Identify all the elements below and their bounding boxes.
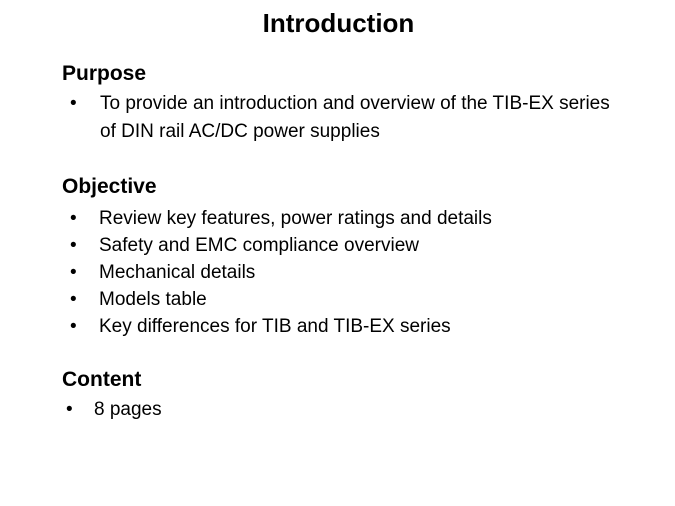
slide-title: Introduction [0, 8, 675, 38]
slide-title-text: Introduction [263, 8, 415, 38]
bullet-dot-icon: • [66, 397, 78, 423]
list-item-text: Mechanical details [99, 262, 255, 283]
list-item-text: 8 pages [94, 399, 162, 420]
list-item: • Models table [0, 286, 675, 313]
list-item: • Mechanical details [0, 259, 675, 286]
list-item: • 8 pages [0, 397, 675, 423]
list-item-text: Key differences for TIB and TIB-EX serie… [99, 316, 451, 337]
presentation-slide: Introduction Purpose • To provide an int… [0, 0, 675, 506]
bullet-list-content: • 8 pages [0, 397, 675, 423]
bullet-dot-icon: • [70, 259, 82, 286]
list-item-text: Models table [99, 289, 207, 310]
list-item: • Safety and EMC compliance overview [0, 232, 675, 259]
list-item-text: Review key features, power ratings and d… [99, 208, 492, 229]
list-item: • Review key features, power ratings and… [0, 205, 675, 232]
section-purpose: Purpose • To provide an introduction and… [0, 62, 675, 146]
list-item: • Key differences for TIB and TIB-EX ser… [0, 313, 675, 340]
section-content: Content • 8 pages [0, 368, 675, 423]
section-heading-content: Content [0, 368, 675, 392]
bullet-dot-icon: • [70, 205, 82, 232]
bullet-dot-icon: • [70, 90, 82, 118]
list-item-text: Safety and EMC compliance overview [99, 235, 419, 256]
section-objective: Objective • Review key features, power r… [0, 175, 675, 340]
bullet-dot-icon: • [70, 232, 82, 259]
list-item-text: To provide an introduction and overview … [100, 93, 610, 142]
bullet-list-purpose: • To provide an introduction and overvie… [0, 90, 675, 146]
bullet-list-objective: • Review key features, power ratings and… [0, 205, 675, 340]
section-heading-objective: Objective [0, 175, 675, 199]
list-item: • To provide an introduction and overvie… [0, 90, 675, 146]
section-heading-purpose: Purpose [0, 62, 675, 86]
bullet-dot-icon: • [70, 313, 82, 340]
bullet-dot-icon: • [70, 286, 82, 313]
